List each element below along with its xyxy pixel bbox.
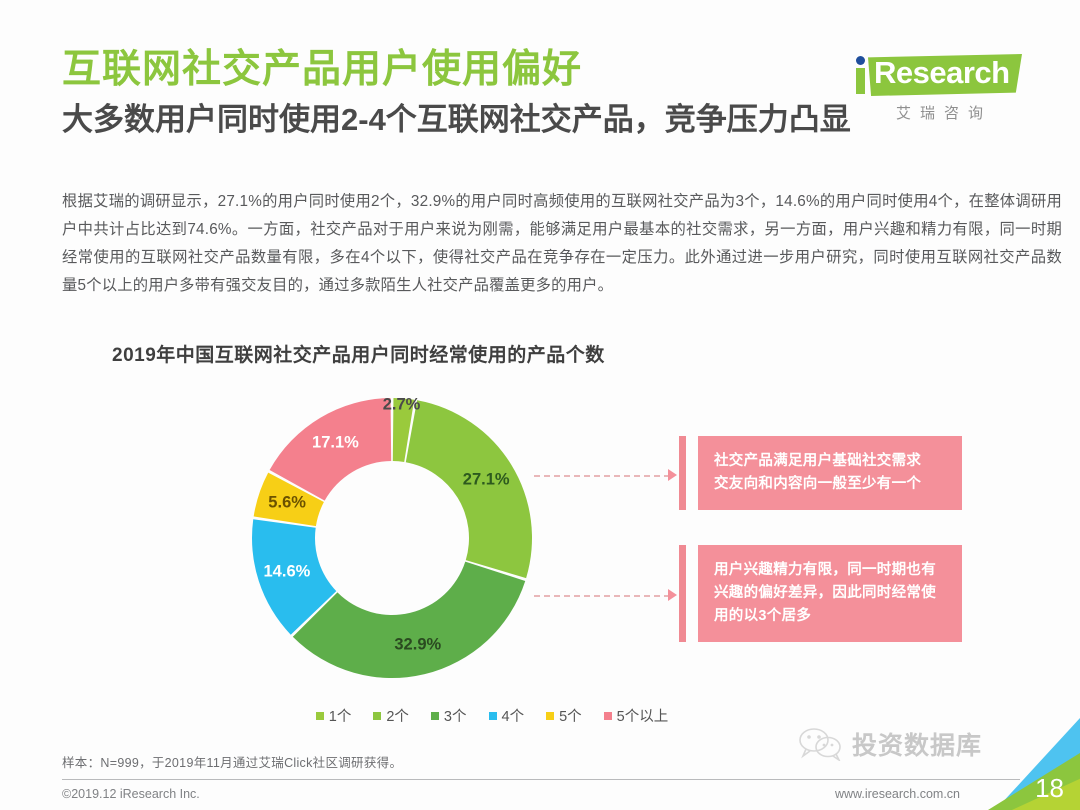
callout-1-gap — [686, 436, 698, 510]
copyright-text: ©2019.12 iResearch Inc. — [62, 787, 200, 801]
callout-2-gap — [686, 545, 698, 642]
connector-arrow-1 — [668, 469, 677, 481]
legend-label: 3个 — [444, 705, 467, 726]
callout-1-line-2: 交友向和内容向一般至少有一个 — [714, 473, 946, 496]
connector-arrow-2 — [668, 589, 677, 601]
watermark: 投资数据库 — [798, 726, 982, 762]
callout-1-box: 社交产品满足用户基础社交需求 交友向和内容向一般至少有一个 — [698, 436, 962, 510]
callout-1-line-1: 社交产品满足用户基础社交需求 — [714, 450, 946, 473]
logo-wordmark: Research — [874, 55, 1010, 91]
iresearch-logo: Research 艾瑞咨询 — [842, 50, 1022, 123]
legend-swatch-icon — [316, 712, 324, 720]
chart-legend: 1个2个3个4个5个5个以上 — [212, 705, 772, 726]
wechat-icon — [798, 727, 844, 761]
donut-slice-3 — [293, 562, 525, 678]
legend-item-6[interactable]: 5个以上 — [604, 705, 669, 726]
legend-item-5[interactable]: 5个 — [546, 705, 582, 726]
callout-1-bar — [679, 436, 686, 510]
legend-swatch-icon — [604, 712, 612, 720]
legend-swatch-icon — [489, 712, 497, 720]
legend-label: 2个 — [386, 705, 409, 726]
legend-swatch-icon — [546, 712, 554, 720]
logo-mark: Research — [850, 50, 1022, 98]
connector-line-2 — [534, 595, 670, 599]
page-number: 18 — [1035, 773, 1064, 804]
watermark-text: 投资数据库 — [852, 726, 982, 762]
legend-label: 1个 — [329, 705, 352, 726]
slide-canvas: 互联网社交产品用户使用偏好 大多数用户同时使用2-4个互联网社交产品，竞争压力凸… — [0, 0, 1080, 810]
donut-slice-2 — [406, 400, 532, 578]
corner-decoration — [988, 718, 1080, 810]
chart-title: 2019年中国互联网社交产品用户同时经常使用的产品个数 — [112, 340, 605, 367]
callout-2-box: 用户兴趣精力有限，同一时期也有 兴趣的偏好差异，因此同时经常使 用的以3个居多 — [698, 545, 962, 642]
legend-item-4[interactable]: 4个 — [489, 705, 525, 726]
legend-item-2[interactable]: 2个 — [373, 705, 409, 726]
website-url: www.iresearch.com.cn — [835, 787, 960, 801]
legend-label: 5个以上 — [617, 705, 669, 726]
logo-i-stem — [856, 68, 865, 94]
logo-chinese-name: 艾瑞咨询 — [842, 102, 1022, 123]
body-paragraph: 根据艾瑞的调研显示，27.1%的用户同时使用2个，32.9%的用户同时高频使用的… — [62, 188, 1062, 300]
logo-i-dot-icon — [856, 56, 865, 65]
donut-slices — [252, 398, 532, 678]
donut-chart: 2.7%27.1%32.9%14.6%5.6%17.1% — [242, 388, 542, 688]
callout-1: 社交产品满足用户基础社交需求 交友向和内容向一般至少有一个 — [679, 436, 962, 510]
legend-item-3[interactable]: 3个 — [431, 705, 467, 726]
legend-label: 5个 — [559, 705, 582, 726]
callout-2-line-3: 用的以3个居多 — [714, 605, 946, 628]
callout-2-line-2: 兴趣的偏好差异，因此同时经常使 — [714, 582, 946, 605]
footer-divider — [62, 779, 1020, 780]
legend-swatch-icon — [373, 712, 381, 720]
sample-note: 样本：N=999，于2019年11月通过艾瑞Click社区调研获得。 — [62, 752, 402, 771]
callout-2-bar — [679, 545, 686, 642]
connector-line-1 — [534, 475, 670, 479]
chart-area: 2.7%27.1%32.9%14.6%5.6%17.1% 1个2个3个4个5个5… — [62, 380, 1022, 740]
legend-item-1[interactable]: 1个 — [316, 705, 352, 726]
legend-label: 4个 — [502, 705, 525, 726]
legend-swatch-icon — [431, 712, 439, 720]
callout-2: 用户兴趣精力有限，同一时期也有 兴趣的偏好差异，因此同时经常使 用的以3个居多 — [679, 545, 962, 642]
donut-svg — [242, 388, 542, 688]
callout-2-line-1: 用户兴趣精力有限，同一时期也有 — [714, 559, 946, 582]
